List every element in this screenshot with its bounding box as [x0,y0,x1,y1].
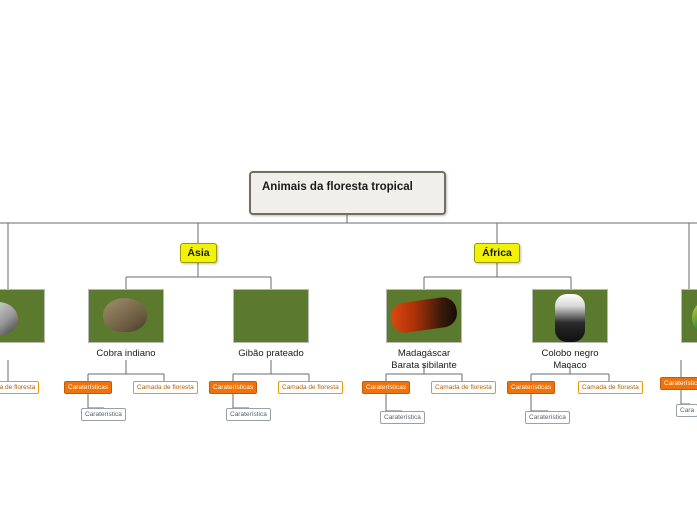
connector-lines [0,0,697,520]
animal-cobra-indiano[interactable]: Cobra indiano [88,289,164,360]
continent-node-africa[interactable]: África [474,243,520,263]
colobo-photo [532,289,608,343]
root-node[interactable]: Animais da floresta tropical [249,171,446,215]
root-label: Animais da floresta tropical [262,180,438,194]
tag-edge-right-caracteristica[interactable]: Caraterística [660,377,697,390]
tag-cobra-caracteristicas-label: Caraterísticas [68,383,108,392]
tag-gibao-caracteristica[interactable]: Caraterística [226,408,271,421]
animal-barata-sibilante[interactable]: Madagáscar Barata sibilante [386,289,462,371]
tag-cobra-camada-label: Camada de floresta [137,383,194,392]
tag-barata-camada[interactable]: Camada de floresta [431,381,496,394]
bird-right-photo [681,289,697,343]
animal-cobra-caption: Cobra indiano [88,348,164,360]
tag-barata-caracteristica-label: Caraterística [384,413,421,422]
tag-edge-left-camada-label: da de floresta [0,383,35,392]
tag-edge-right-cara-label: Cara [680,406,694,415]
tag-cobra-caracteristica-label: Caraterística [85,410,122,419]
animal-colobo-negro[interactable]: Colobo negro Macaco [532,289,608,371]
animal-barata-caption-line1: Madagáscar [386,348,462,360]
continent-label-asia: Ásia [187,247,209,259]
tag-barata-camada-label: Camada de floresta [435,383,492,392]
tag-colobo-caracteristica-label: Caraterística [529,413,566,422]
tag-cobra-caracteristicas[interactable]: Caraterísticas [64,381,112,394]
continent-label-africa: África [482,247,512,259]
animal-barata-caption: Madagáscar Barata sibilante [386,348,462,371]
barata-photo [386,289,462,343]
tag-colobo-caracteristicas-label: Caraterísticas [511,383,551,392]
tag-cobra-camada[interactable]: Camada de floresta [133,381,198,394]
animal-edge-left[interactable] [0,289,45,343]
tag-gibao-camada-label: Camada de floresta [282,383,339,392]
animal-edge-right[interactable] [681,289,697,343]
tag-gibao-caracteristicas-label: Caraterísticas [213,383,253,392]
bird-left-photo [0,289,45,343]
cobra-photo [88,289,164,343]
tag-colobo-camada-label: Camada de floresta [582,383,639,392]
animal-colobo-caption-line1: Colobo negro [532,348,608,360]
animal-colobo-caption-line2: Macaco [532,360,608,372]
tag-edge-right-cara[interactable]: Cara [676,404,697,417]
continent-node-asia[interactable]: Ásia [180,243,217,263]
tag-colobo-caracteristica[interactable]: Caraterística [525,411,570,424]
animal-colobo-caption: Colobo negro Macaco [532,348,608,371]
tag-colobo-caracteristicas[interactable]: Caraterísticas [507,381,555,394]
mindmap-canvas: Animais da floresta tropical Ásia África… [0,0,697,520]
animal-barata-caption-line2: Barata sibilante [386,360,462,372]
tag-edge-left-camada[interactable]: da de floresta [0,381,39,394]
tag-gibao-camada[interactable]: Camada de floresta [278,381,343,394]
tag-gibao-caracteristica-label: Caraterística [230,410,267,419]
tag-gibao-caracteristicas[interactable]: Caraterísticas [209,381,257,394]
tag-cobra-caracteristica[interactable]: Caraterística [81,408,126,421]
animal-gibao-caption: Gibão prateado [233,348,309,360]
tag-edge-right-caracteristica-label: Caraterística [664,379,697,388]
tag-barata-caracteristica[interactable]: Caraterística [380,411,425,424]
animal-gibao-prateado[interactable]: Gibão prateado [233,289,309,360]
gibao-photo [233,289,309,343]
tag-barata-caracteristicas-label: Caraterísticas [366,383,406,392]
tag-barata-caracteristicas[interactable]: Caraterísticas [362,381,410,394]
tag-colobo-camada[interactable]: Camada de floresta [578,381,643,394]
